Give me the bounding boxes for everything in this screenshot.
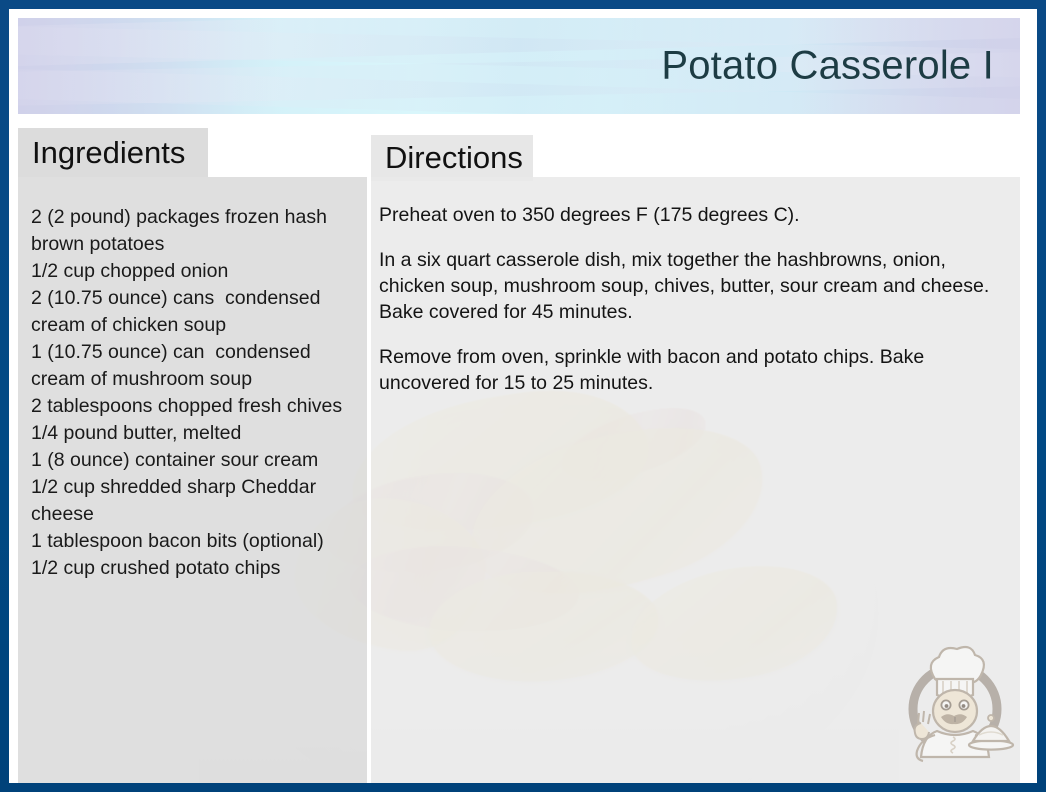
ingredient-item: 2 (2 pound) packages frozen hash brown p… xyxy=(31,204,357,258)
ingredients-panel: 2 (2 pound) packages frozen hash brown p… xyxy=(18,177,367,783)
ingredients-heading: Ingredients xyxy=(32,135,185,171)
ingredient-item: 2 (10.75 ounce) cans condensed cream of … xyxy=(31,285,357,339)
ingredient-item: 1 (8 ounce) container sour cream xyxy=(31,447,357,474)
ingredient-item: 1/2 cup crushed potato chips xyxy=(31,555,357,582)
directions-heading: Directions xyxy=(385,140,523,176)
ingredient-item: 2 tablespoons chopped fresh chives xyxy=(31,393,357,420)
directions-heading-panel: Directions xyxy=(371,135,533,181)
ingredients-heading-panel: Ingredients xyxy=(18,128,208,177)
banner-tint-left xyxy=(18,18,279,114)
direction-step: Remove from oven, sprinkle with bacon an… xyxy=(379,344,1004,396)
ingredient-item: 1 (10.75 ounce) can condensed cream of m… xyxy=(31,339,357,393)
chef-mascot-icon xyxy=(891,639,1019,767)
ingredients-list: 2 (2 pound) packages frozen hash brown p… xyxy=(18,177,367,582)
page-title: Potato Casserole I xyxy=(661,44,994,89)
ingredient-item: 1/2 cup chopped onion xyxy=(31,258,357,285)
page-sheet: Potato Casserole I Ingredients 2 (2 poun… xyxy=(9,9,1037,783)
direction-step: In a six quart casserole dish, mix toget… xyxy=(379,247,1004,325)
ingredient-item: 1/4 pound butter, melted xyxy=(31,420,357,447)
direction-step: Preheat oven to 350 degrees F (175 degre… xyxy=(379,202,1004,228)
title-banner: Potato Casserole I xyxy=(18,18,1020,114)
directions-text: Preheat oven to 350 degrees F (175 degre… xyxy=(371,177,1020,396)
recipe-card-page: Potato Casserole I Ingredients 2 (2 poun… xyxy=(0,0,1046,792)
ingredient-item: 1/2 cup shredded sharp Cheddar cheese xyxy=(31,474,357,528)
ingredient-item: 1 tablespoon bacon bits (optional) xyxy=(31,528,357,555)
